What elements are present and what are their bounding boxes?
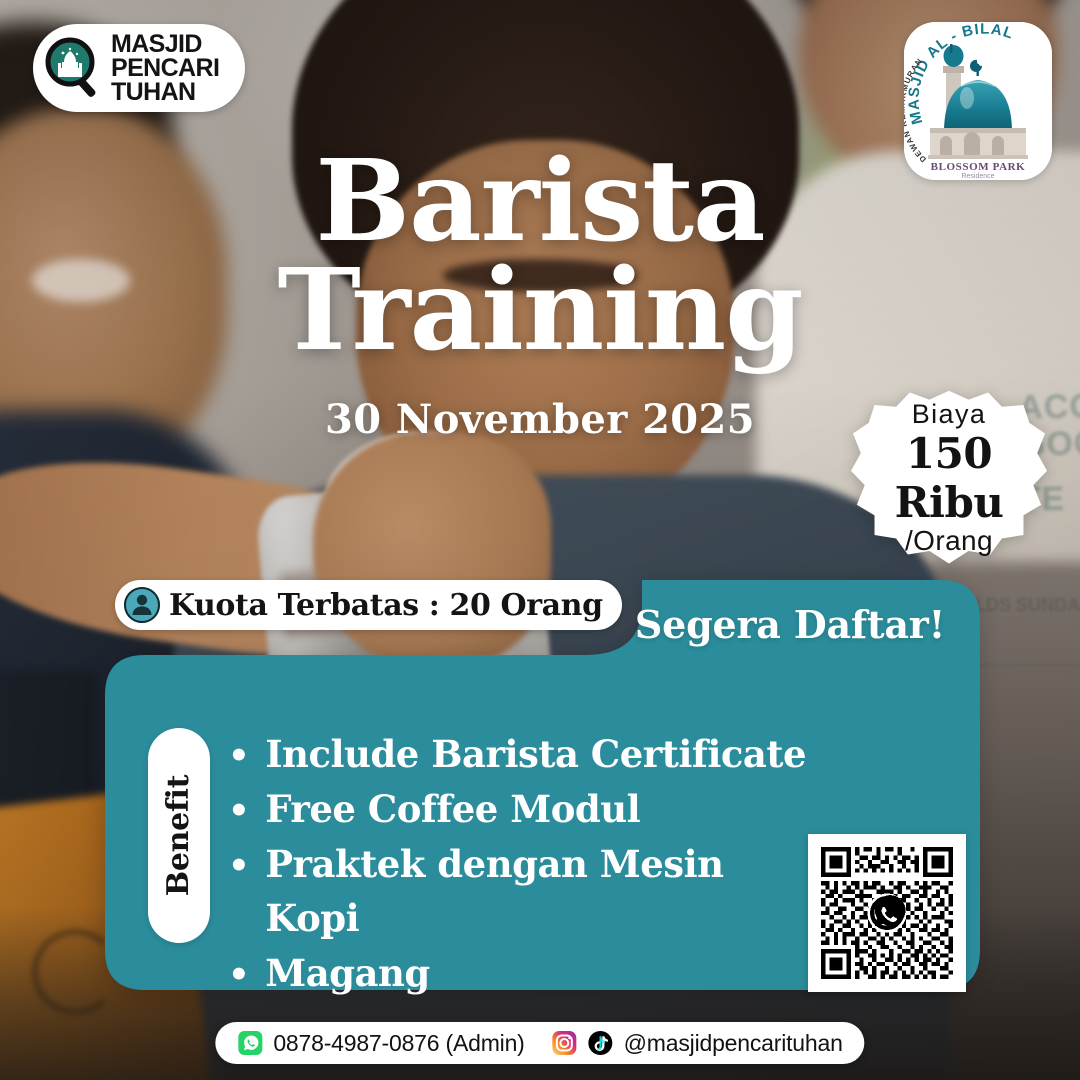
benefit-item-text: Include Barista Certificate xyxy=(265,727,806,782)
bullet-icon: • xyxy=(228,739,249,773)
list-item: • Free Coffee Modul xyxy=(228,782,808,837)
benefit-item-text: Praktek dengan Mesin Kopi xyxy=(265,837,808,947)
whatsapp-phone: 0878-4987-0876 (Admin) xyxy=(273,1030,524,1057)
instagram-icon[interactable] xyxy=(552,1030,578,1056)
tiktok-icon[interactable] xyxy=(588,1030,614,1056)
masjid-pencari-tuhan-logo: MASJID PENCARI TUHAN xyxy=(33,24,245,112)
cta-heading: Segera Daftar! xyxy=(600,602,980,647)
whatsapp-icon xyxy=(872,895,905,928)
benefit-item-text: Free Coffee Modul xyxy=(265,782,640,837)
quota-badge: Kuota Terbatas : 20 Orang xyxy=(115,580,622,630)
whatsapp-icon[interactable] xyxy=(237,1030,263,1056)
poster-root: ACC GOO for TE LDS SUNDA xyxy=(0,0,1080,1080)
benefit-tab-label: Benefit xyxy=(162,775,197,896)
quota-text: Kuota Terbatas : 20 Orang xyxy=(169,588,603,623)
bullet-icon: • xyxy=(228,794,249,828)
list-item: • Magang xyxy=(228,946,808,1001)
social-handle: @masjidpencarituhan xyxy=(624,1030,843,1057)
whatsapp-qr-code[interactable] xyxy=(808,834,966,992)
benefit-tab: Benefit xyxy=(148,728,210,943)
person-icon xyxy=(124,587,160,623)
price-label: Biaya xyxy=(851,399,1047,430)
price-badge: Biaya 150 Ribu /Orang xyxy=(851,389,1047,567)
contact-bar: 0878-4987-0876 (Admin) xyxy=(215,1022,864,1064)
magnifying-glass-mosque-icon xyxy=(43,37,105,99)
bullet-icon: • xyxy=(228,958,249,992)
list-item: • Praktek dengan Mesin Kopi xyxy=(228,837,808,947)
logo-wordmark: MASJID PENCARI TUHAN xyxy=(111,32,219,104)
benefit-list: • Include Barista Certificate • Free Cof… xyxy=(228,727,808,1001)
price-amount: 150 Ribu xyxy=(851,429,1047,527)
title-line-2: Training xyxy=(0,257,1080,366)
benefit-item-text: Magang xyxy=(265,946,430,1001)
page-title: Barista Training xyxy=(0,148,1080,365)
list-item: • Include Barista Certificate xyxy=(228,727,808,782)
bullet-icon: • xyxy=(228,849,249,883)
price-per-unit: /Orang xyxy=(851,525,1047,557)
